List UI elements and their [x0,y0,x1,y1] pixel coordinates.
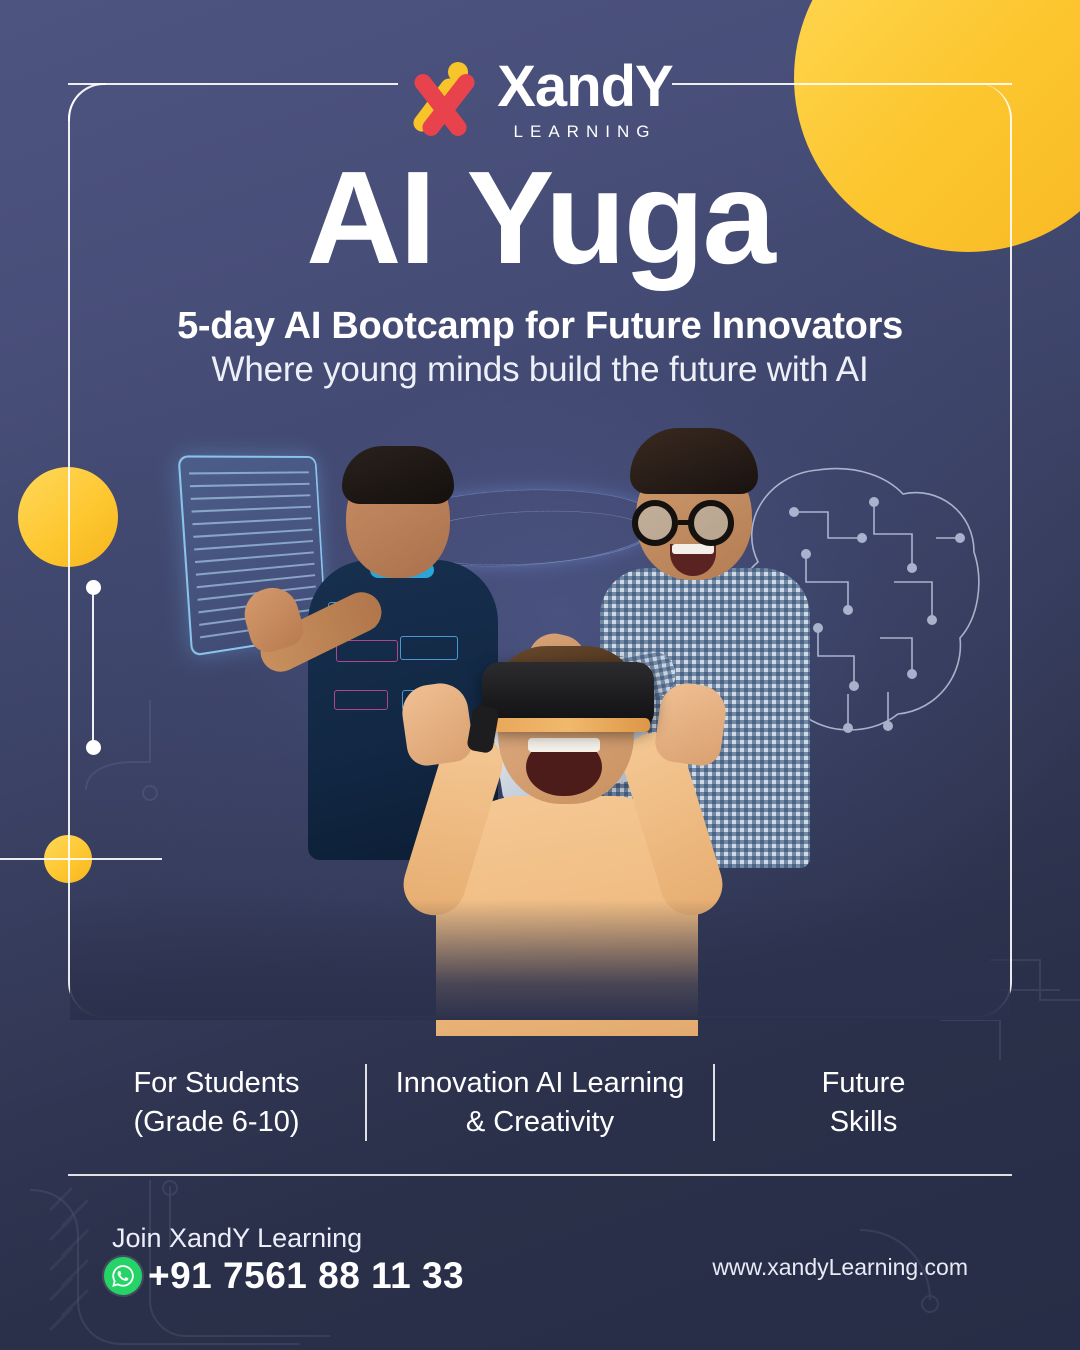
vr-child-teeth [528,738,600,752]
page-title: AI Yuga [0,152,1080,284]
logo-wordmark: XandY [497,58,673,116]
vr-headset-orange-strip [486,718,650,732]
poster: XandY LEARNING AI Yuga 5-day AI Bootcamp… [0,0,1080,1350]
brand-logo: XandY LEARNING [0,58,1080,142]
contact-phone-row[interactable]: +91 7561 88 11 33 [104,1255,464,1297]
subtitle-primary: 5-day AI Bootcamp for Future Innovators [0,305,1080,348]
feature-divider-rule [68,1174,1012,1176]
feature-students: For Students (Grade 6-10) [68,1064,365,1141]
glasses-left-lens-icon [632,500,678,546]
glasses-right-lens-icon [688,500,734,546]
vr-child-right-hand [653,680,729,768]
feature-future-skills-line2: Skills [727,1103,1000,1142]
feature-students-line2: (Grade 6-10) [80,1103,353,1142]
subtitle-secondary: Where young minds build the future with … [0,350,1080,390]
feature-row: For Students (Grade 6-10) Innovation AI … [68,1030,1012,1175]
xandy-x-logo-icon [407,62,479,138]
phone-number[interactable]: +91 7561 88 11 33 [148,1255,464,1297]
logo-tagline: LEARNING [514,122,657,142]
feature-innovation: Innovation AI Learning & Creativity [365,1064,715,1141]
website-url[interactable]: www.xandyLearning.com [712,1254,968,1281]
hero-bottom-fade [70,900,1010,1020]
feature-innovation-line2: & Creativity [379,1103,701,1142]
join-label: Join XandY Learning [112,1223,362,1254]
feature-innovation-line1: Innovation AI Learning [379,1064,701,1103]
right-boy-hair [630,428,758,494]
hero-collage [70,420,1010,1020]
feature-future-skills: Future Skills [715,1064,1012,1141]
glasses-bridge-icon [678,520,690,525]
feature-future-skills-line1: Future [727,1064,1000,1103]
feature-students-line1: For Students [80,1064,353,1103]
vr-child-left-hand [399,680,475,768]
whatsapp-icon[interactable] [104,1257,142,1295]
left-boy-hair [342,446,454,504]
